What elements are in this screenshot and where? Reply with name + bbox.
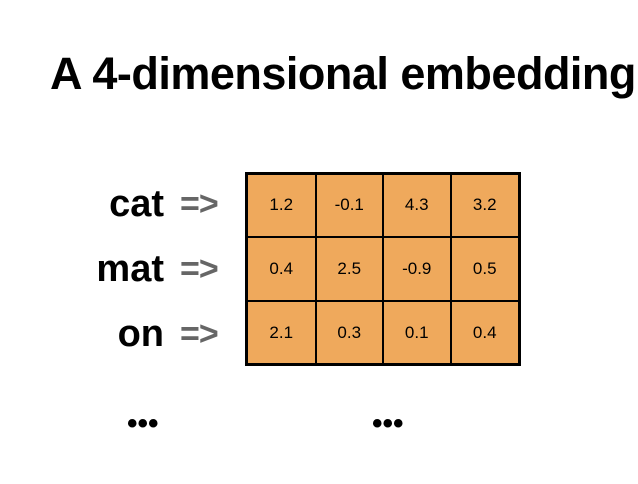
- arrow-icon-cat: =>: [180, 187, 238, 221]
- matrix-cell: 4.3: [383, 175, 451, 237]
- embedding-matrix-table: 1.2 -0.1 4.3 3.2 0.4 2.5 -0.9 0.5 2.1 0.…: [248, 175, 518, 363]
- word-label-on: on: [118, 315, 164, 353]
- matrix-cell: -0.1: [316, 175, 384, 237]
- word-label-mat: mat: [96, 250, 164, 288]
- matrix-cell: 0.5: [451, 237, 519, 302]
- table-row: 0.4 2.5 -0.9 0.5: [248, 237, 518, 302]
- matrix-cell: 0.4: [451, 301, 519, 363]
- word-label-column: cat => mat => on =>: [20, 172, 238, 366]
- table-row: 2.1 0.3 0.1 0.4: [248, 301, 518, 363]
- table-row: 1.2 -0.1 4.3 3.2: [248, 175, 518, 237]
- word-label-row-on: on =>: [20, 301, 238, 366]
- matrix-cell: 1.2: [248, 175, 316, 237]
- embedding-matrix: 1.2 -0.1 4.3 3.2 0.4 2.5 -0.9 0.5 2.1 0.…: [245, 172, 521, 366]
- ellipsis-matrix: •••: [372, 409, 404, 439]
- word-label-row-mat: mat =>: [20, 237, 238, 302]
- matrix-cell: 2.5: [316, 237, 384, 302]
- ellipsis-labels: •••: [127, 409, 159, 439]
- matrix-cell: 0.3: [316, 301, 384, 363]
- word-label-cat: cat: [109, 185, 164, 223]
- slide-canvas: A 4-dimensional embedding cat => mat => …: [0, 0, 638, 484]
- arrow-icon-mat: =>: [180, 252, 238, 286]
- matrix-cell: 2.1: [248, 301, 316, 363]
- arrow-icon-on: =>: [180, 317, 238, 351]
- matrix-cell: 0.1: [383, 301, 451, 363]
- matrix-cell: 0.4: [248, 237, 316, 302]
- matrix-cell: 3.2: [451, 175, 519, 237]
- page-title: A 4-dimensional embedding: [50, 48, 610, 100]
- word-label-row-cat: cat =>: [20, 172, 238, 237]
- matrix-cell: -0.9: [383, 237, 451, 302]
